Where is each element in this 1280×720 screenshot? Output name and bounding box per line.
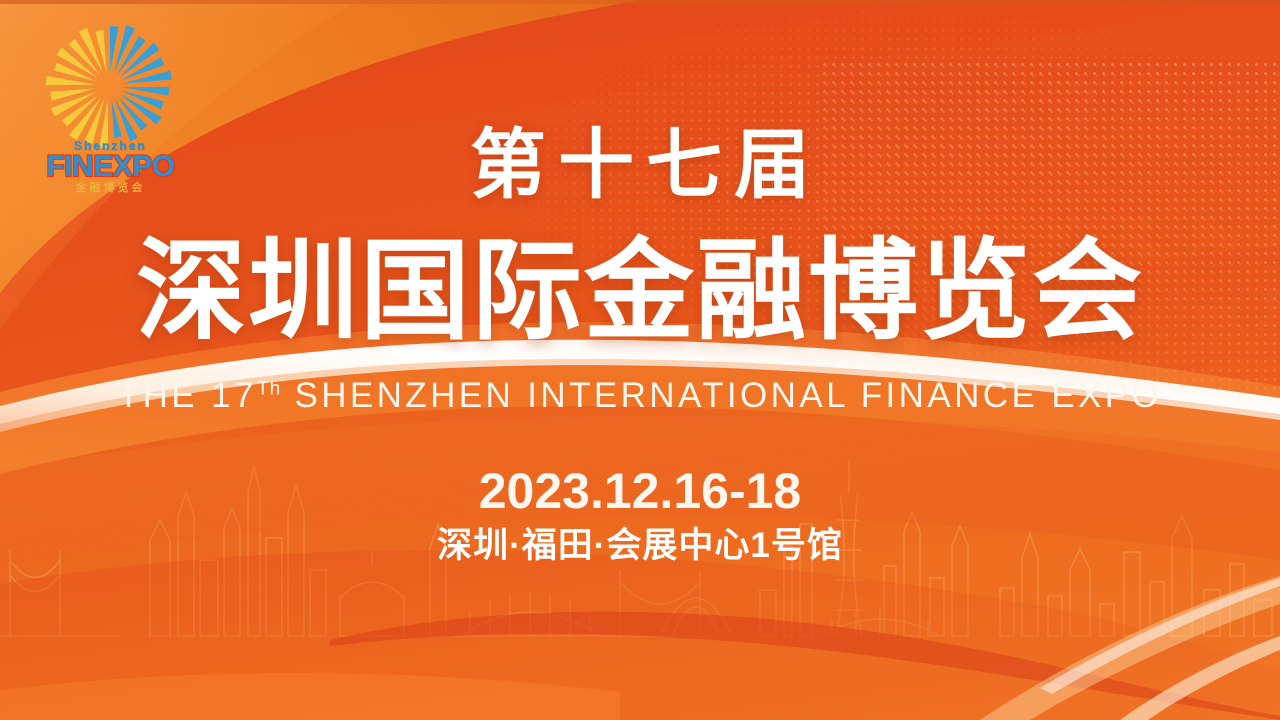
edition-title: 第十七届 [0, 128, 1280, 204]
english-title-prefix: THE 17 [118, 376, 257, 415]
expo-banner: Shenzhen FINEXPO 金融博览会 第十七届 深圳国际金融博览会 TH… [0, 0, 1280, 720]
english-title-ordinal: Th [257, 378, 281, 399]
english-title-rest: SHENZHEN INTERNATIONAL FINANCE EXPO [294, 376, 1162, 415]
main-title: 深圳国际金融博览会 [0, 234, 1280, 350]
event-venue: 深圳·福田·会展中心1号馆 [0, 525, 1280, 567]
banner-content: 第十七届 深圳国际金融博览会 THE 17Th SHENZHEN INTERNA… [0, 0, 1280, 720]
event-date: 2023.12.16-18 [0, 466, 1280, 516]
english-title: THE 17Th SHENZHEN INTERNATIONAL FINANCE … [0, 378, 1280, 413]
